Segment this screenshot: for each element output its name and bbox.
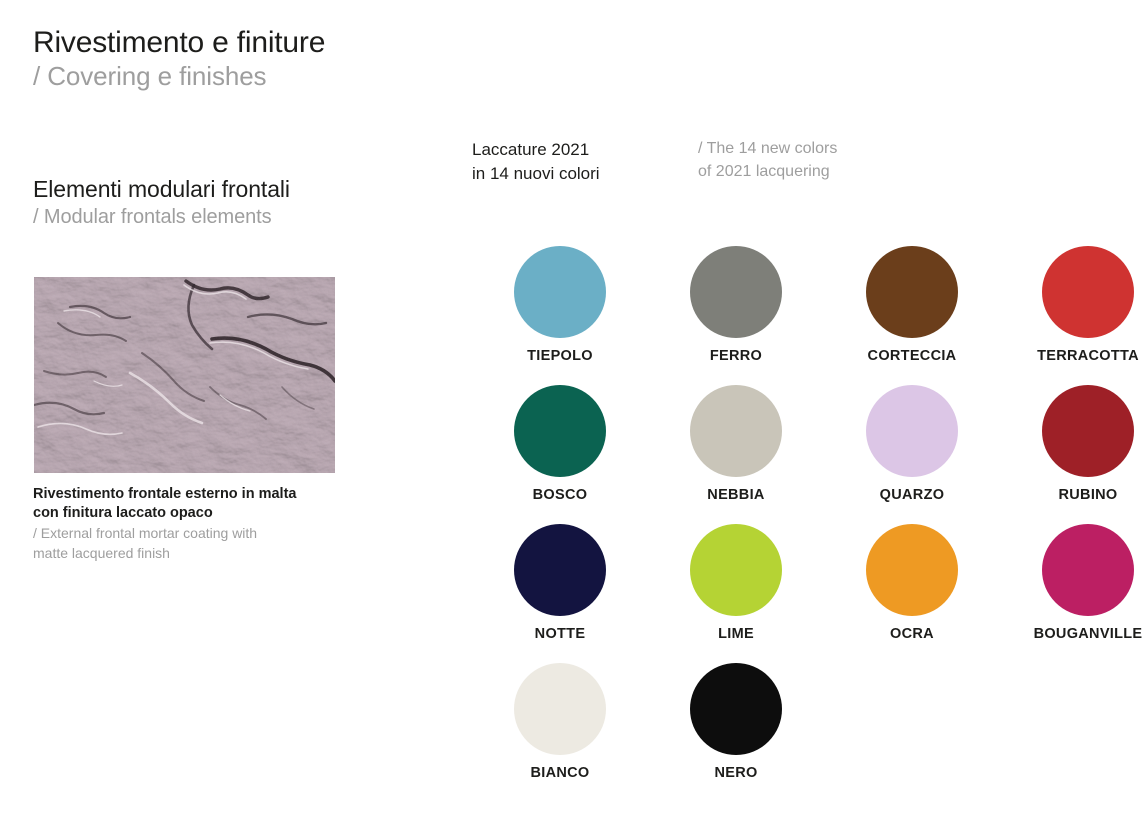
caption-english-line1: / External frontal mortar coating with — [33, 525, 257, 541]
caption-english: / External frontal mortar coating with m… — [33, 524, 363, 564]
swatch-circle[interactable] — [690, 385, 782, 477]
color-swatch-rubino[interactable]: RUBINO — [1000, 385, 1144, 524]
swatch-label: TERRACOTTA — [1037, 348, 1139, 364]
swatch-label: CORTECCIA — [868, 348, 957, 364]
swatch-header-italian: Laccature 2021 in 14 nuovi colori — [472, 138, 698, 186]
swatch-circle[interactable] — [690, 246, 782, 338]
swatch-circle[interactable] — [1042, 246, 1134, 338]
page-title: Rivestimento e finiture / Covering e fin… — [33, 26, 463, 93]
swatch-header-english-line2: of 2021 lacquering — [698, 163, 830, 180]
swatch-header-english: / The 14 new colors of 2021 lacquering — [698, 138, 837, 183]
color-swatch-corteccia[interactable]: CORTECCIA — [824, 246, 1000, 385]
color-swatch-ferro[interactable]: FERRO — [648, 246, 824, 385]
swatch-circle[interactable] — [514, 385, 606, 477]
swatch-label: LIME — [718, 626, 754, 642]
color-swatch-nero[interactable]: NERO — [648, 663, 824, 802]
swatch-circle[interactable] — [690, 663, 782, 755]
swatch-circle[interactable] — [690, 524, 782, 616]
swatch-label: FERRO — [710, 348, 762, 364]
swatch-circle[interactable] — [1042, 524, 1134, 616]
caption-italian-line2: con finitura laccato opaco — [33, 505, 213, 521]
swatch-circle[interactable] — [866, 385, 958, 477]
material-sample-figure — [34, 277, 335, 473]
swatch-label: QUARZO — [880, 487, 945, 503]
color-swatch-tiepolo[interactable]: TIEPOLO — [472, 246, 648, 385]
color-swatch-bouganville[interactable]: BOUGANVILLE — [1000, 524, 1144, 663]
color-swatch-lime[interactable]: LIME — [648, 524, 824, 663]
color-swatch-nebbia[interactable]: NEBBIA — [648, 385, 824, 524]
color-swatch-quarzo[interactable]: QUARZO — [824, 385, 1000, 524]
swatch-header-italian-line2: in 14 nuovi colori — [472, 164, 600, 183]
swatch-circle[interactable] — [514, 246, 606, 338]
caption-italian: Rivestimento frontale esterno in malta c… — [33, 485, 363, 523]
color-swatch-grid: TIEPOLOFERROCORTECCIATERRACOTTABOSCONEBB… — [472, 246, 1122, 802]
page-title-english: / Covering e finishes — [33, 60, 463, 94]
caption-italian-line1: Rivestimento frontale esterno in malta — [33, 486, 296, 502]
page-title-italian: Rivestimento e finiture — [33, 26, 463, 60]
swatch-circle[interactable] — [866, 246, 958, 338]
swatch-label: RUBINO — [1059, 487, 1118, 503]
swatch-label: BIANCO — [531, 765, 590, 781]
swatch-label: NEBBIA — [707, 487, 764, 503]
color-swatch-notte[interactable]: NOTTE — [472, 524, 648, 663]
section-heading-italian: Elementi modulari frontali — [33, 176, 463, 204]
swatch-label: NERO — [714, 765, 757, 781]
swatch-header-english-line1: / The 14 new colors — [698, 140, 837, 157]
color-swatch-ocra[interactable]: OCRA — [824, 524, 1000, 663]
swatch-circle[interactable] — [514, 524, 606, 616]
color-swatch-bianco[interactable]: BIANCO — [472, 663, 648, 802]
section-heading: Elementi modulari frontali / Modular fro… — [33, 176, 463, 231]
section-heading-english: / Modular frontals elements — [33, 204, 463, 231]
swatch-header-italian-line1: Laccature 2021 — [472, 140, 589, 159]
swatch-label: OCRA — [890, 626, 934, 642]
swatch-collection-header: Laccature 2021 in 14 nuovi colori / The … — [472, 138, 837, 186]
swatch-label: TIEPOLO — [527, 348, 593, 364]
caption-english-line2: matte lacquered finish — [33, 545, 170, 561]
mortar-texture-image — [34, 277, 335, 473]
swatch-label: BOUGANVILLE — [1034, 626, 1143, 642]
material-sample-caption: Rivestimento frontale esterno in malta c… — [33, 485, 363, 564]
color-swatch-bosco[interactable]: BOSCO — [472, 385, 648, 524]
color-swatch-terracotta[interactable]: TERRACOTTA — [1000, 246, 1144, 385]
swatch-circle[interactable] — [514, 663, 606, 755]
swatch-circle[interactable] — [866, 524, 958, 616]
swatch-circle[interactable] — [1042, 385, 1134, 477]
swatch-label: NOTTE — [535, 626, 586, 642]
swatch-label: BOSCO — [533, 487, 588, 503]
